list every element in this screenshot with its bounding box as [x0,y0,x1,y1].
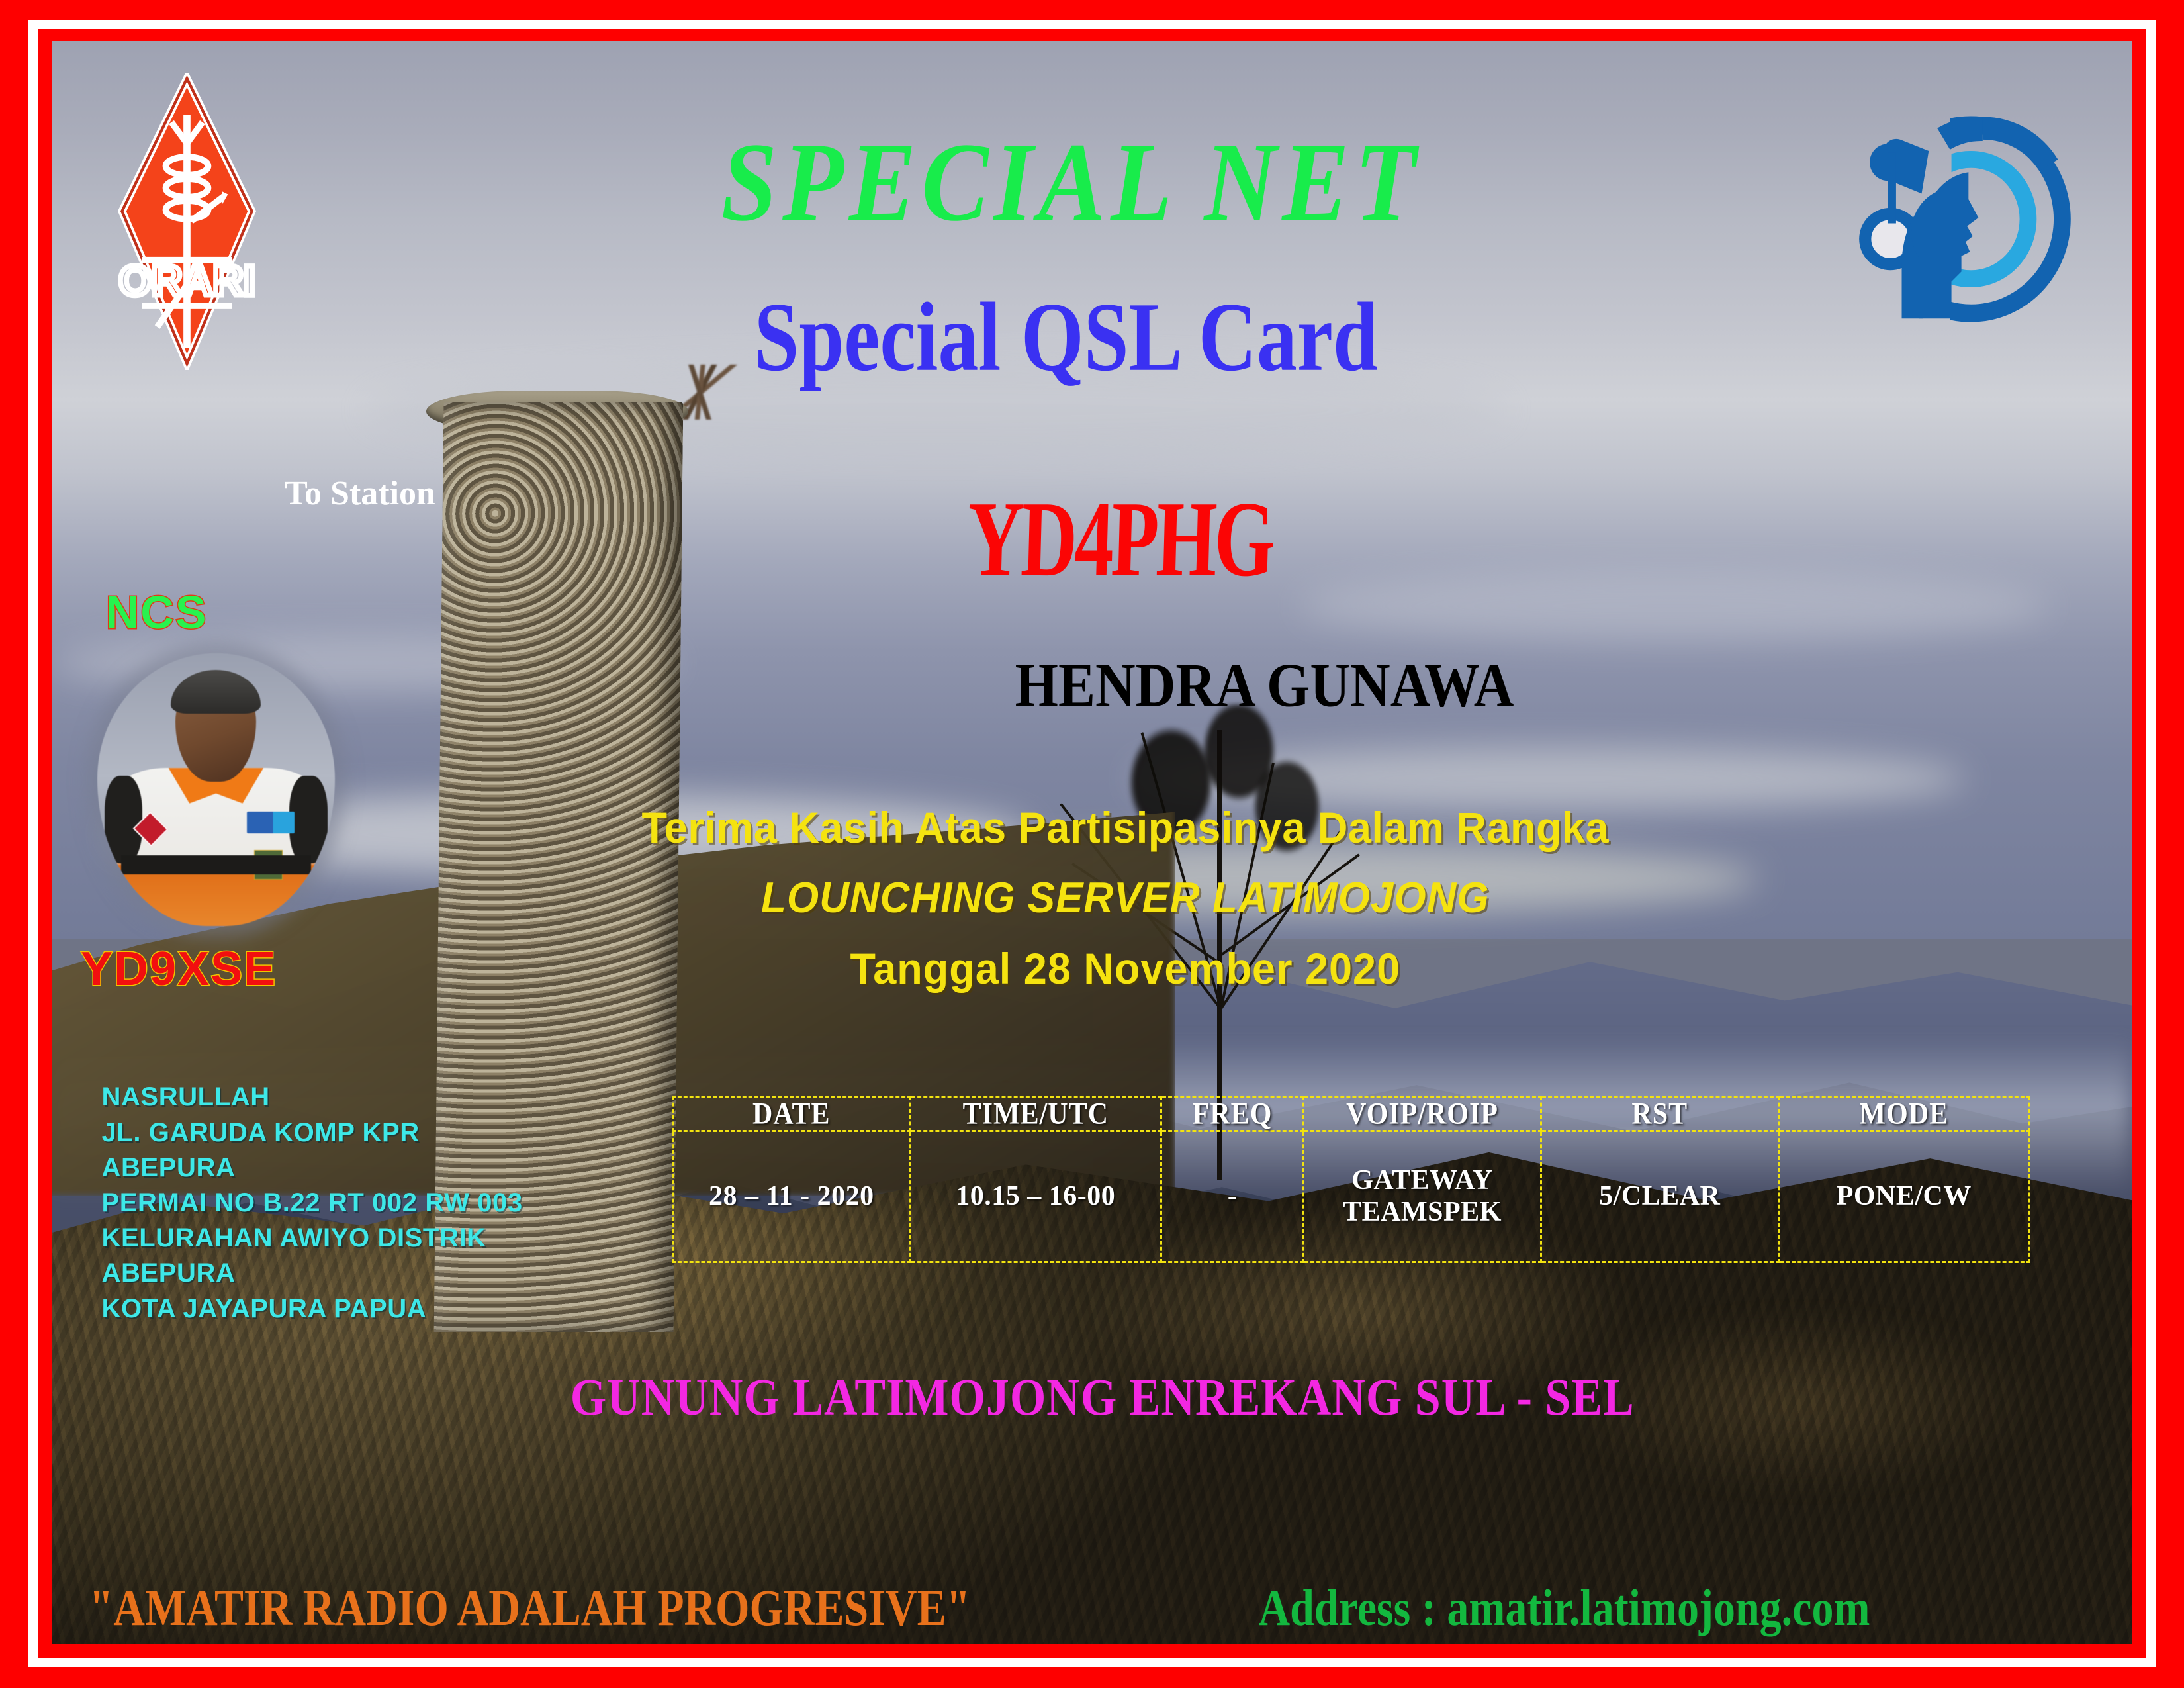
card-background-photo: ORARI [52,41,2132,1644]
footer-web-address: Address : amatir.latimojong.com [1259,1579,1870,1638]
station-callsign: YD4PHG [841,478,2132,602]
ncs-label: NCS [106,586,208,639]
qsl-card: ORARI [0,0,2184,1688]
address-line: JL. GARUDA KOMP KPR [101,1115,522,1150]
cell-date: 28 – 11 - 2020 [672,1131,910,1262]
portrait-belt [121,855,311,874]
column-header-rst: RST [1541,1096,1778,1133]
address-line: PERMAI NO B.22 RT 002 RW 003 [101,1186,522,1221]
cell-rst: 5/CLEAR [1541,1131,1778,1262]
operator-name: HENDRA GUNAWA [842,649,2132,722]
column-header-mode: MODE [1778,1096,2029,1133]
cell-time: 10.15 – 16-00 [910,1131,1161,1262]
to-station-label: To Station [285,474,435,513]
page-subtitle: Special QSL Card [52,281,2132,394]
ncs-address-block: NASRULLAH JL. GARUDA KOMP KPR ABEPURA PE… [101,1080,522,1326]
column-header-date: DATE [672,1096,910,1133]
address-line: KELURAHAN AWIYO DISTRIK [101,1221,522,1256]
table-row: 28 – 11 - 2020 10.15 – 16-00 - GATEWAY T… [672,1131,2029,1262]
location-line: GUNUNG LATIMOJONG ENREKANG SUL - SEL [72,1368,2132,1429]
cell-voip: GATEWAY TEAMSPEK [1304,1131,1541,1262]
qso-log-table: DATE TIME/UTC FREQ VOIP/ROIP RST MODE 28… [672,1096,2030,1263]
address-line: KOTA JAYAPURA PAPUA [101,1291,522,1327]
table-header-row: DATE TIME/UTC FREQ VOIP/ROIP RST MODE [672,1097,2029,1131]
column-header-freq: FREQ [1161,1096,1303,1133]
column-header-time: TIME/UTC [910,1096,1161,1133]
cell-freq: - [1161,1131,1303,1262]
event-line: LOUNCHING SERVER LATIMOJONG [118,874,2132,923]
portrait-hair [171,670,261,714]
event-date-line: Tanggal 28 November 2020 [118,944,2132,994]
page-title: SPECIAL NET [52,117,2132,246]
thanks-line: Terima Kasih Atas Partisipasinya Dalam R… [118,803,2132,853]
footer-motto: "AMATIR RADIO ADALAH PROGRESIVE" [89,1579,971,1638]
address-line: ABEPURA [101,1150,522,1186]
cell-mode: PONE/CW [1778,1131,2029,1262]
address-line: NASRULLAH [101,1080,522,1115]
address-line: ABEPURA [101,1256,522,1291]
column-header-voip: VOIP/ROIP [1304,1096,1541,1133]
